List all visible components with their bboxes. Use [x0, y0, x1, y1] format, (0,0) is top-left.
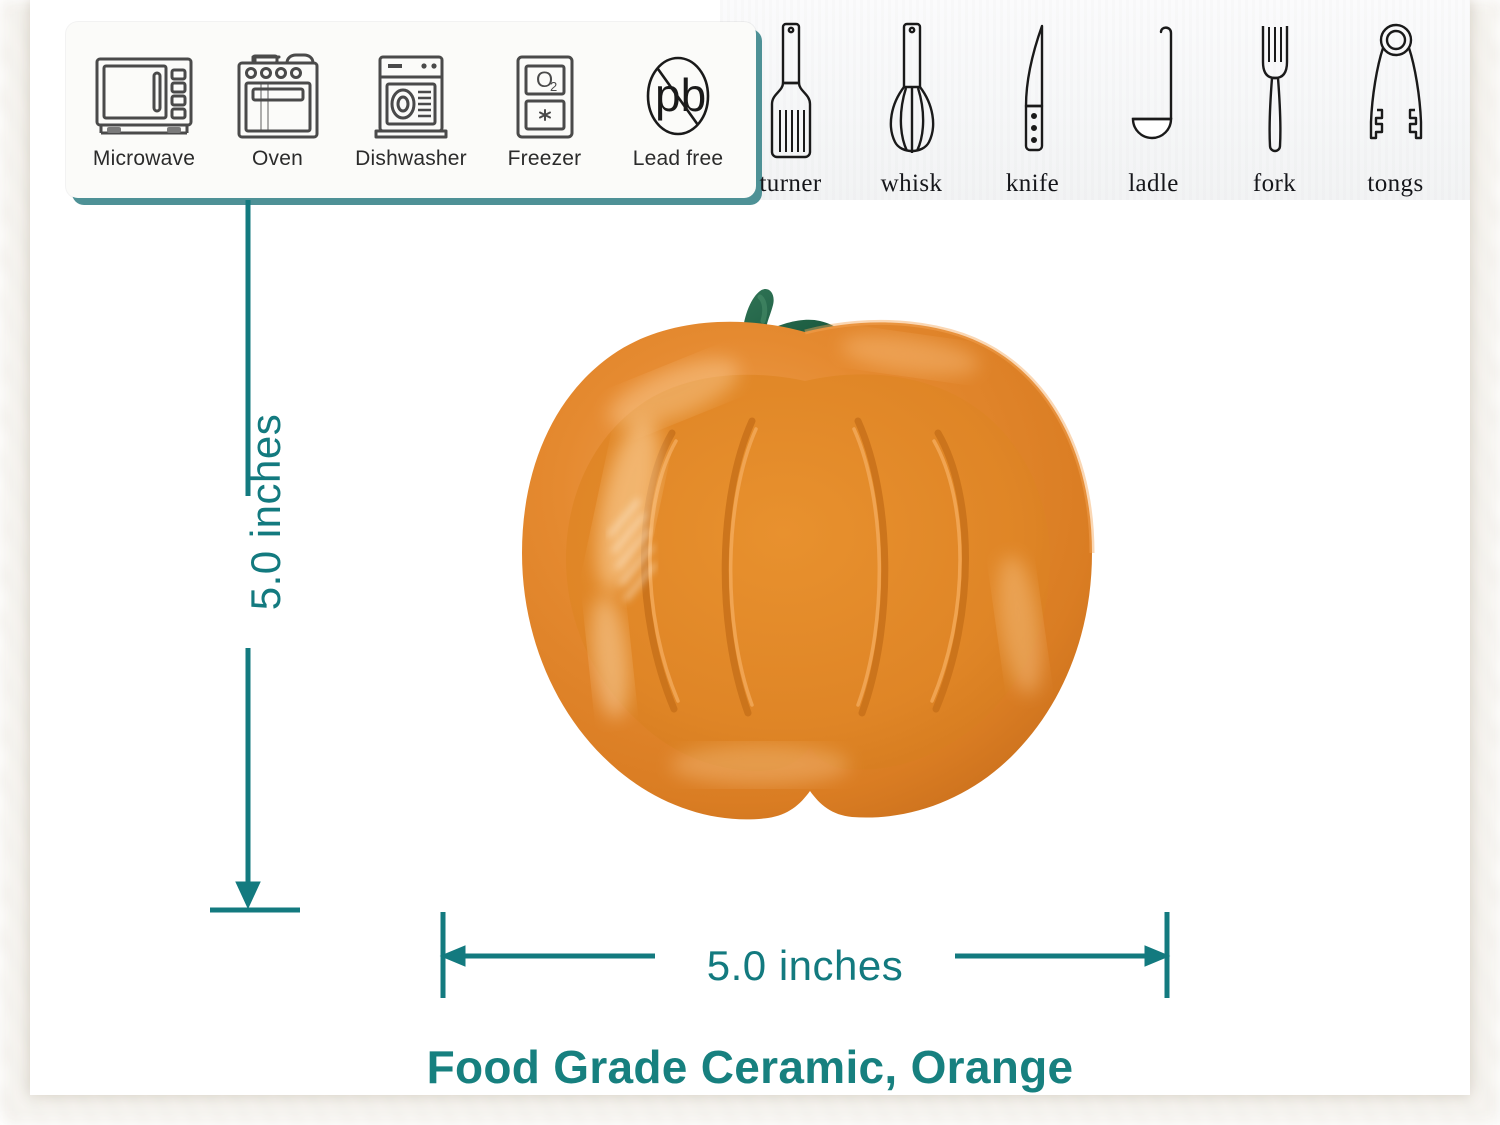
utensil-ladle: ladle: [1099, 18, 1209, 198]
badge-label: Microwave: [82, 147, 206, 171]
product-image-stage: turner whisk: [0, 0, 1500, 1125]
utensil-illustration-band: turner whisk: [720, 0, 1470, 200]
svg-text:2: 2: [550, 79, 557, 94]
freezer-icon: O 2: [492, 51, 598, 143]
dimension-height: 5.0 inches: [200, 196, 320, 918]
badge-label: Oven: [216, 147, 340, 171]
utensil-label: knife: [978, 170, 1088, 198]
dimension-height-label: 5.0 inches: [242, 382, 290, 642]
whisk-icon: [881, 18, 943, 166]
pumpkin-dish-product: [460, 205, 1150, 905]
badge-dishwasher: Dishwasher: [349, 51, 473, 171]
turner-icon: [760, 18, 822, 166]
lead-free-icon: pb: [625, 51, 731, 143]
badge-lead-free: pb Lead free: [616, 51, 740, 171]
microwave-icon: [91, 51, 197, 143]
oven-icon: [225, 51, 331, 143]
utensil-turner: turner: [736, 18, 846, 198]
utensil-label: turner: [736, 170, 846, 198]
pumpkin-dish-illustration: [460, 205, 1150, 905]
dimension-width: 5.0 inches: [435, 906, 1175, 1002]
utensil-knife: knife: [978, 18, 1088, 198]
badge-microwave: Microwave: [82, 51, 206, 171]
dimension-width-label: 5.0 inches: [655, 942, 955, 990]
dishwasher-icon: [358, 51, 464, 143]
utensil-label: ladle: [1099, 170, 1209, 198]
knife-icon: [1002, 18, 1064, 166]
utensil-whisk: whisk: [857, 18, 967, 198]
svg-text:pb: pb: [655, 69, 706, 121]
badge-label: Dishwasher: [349, 147, 473, 171]
utensil-label: whisk: [857, 170, 967, 198]
product-caption: Food Grade Ceramic, Orange: [30, 1040, 1470, 1094]
utensil-tongs: tongs: [1341, 18, 1451, 198]
utensil-label: tongs: [1341, 170, 1451, 198]
fork-icon: [1244, 18, 1306, 166]
badge-label: Freezer: [483, 147, 607, 171]
utensil-fork: fork: [1220, 18, 1330, 198]
tongs-icon: [1361, 18, 1431, 166]
white-content-card: turner whisk: [30, 0, 1470, 1095]
badge-freezer: O 2 Freezer: [483, 51, 607, 171]
badge-oven: Oven: [216, 51, 340, 171]
badge-label: Lead free: [616, 147, 740, 171]
utensil-label: fork: [1220, 170, 1330, 198]
safety-badge-strip: Microwave: [66, 22, 756, 198]
ladle-icon: [1123, 18, 1185, 166]
